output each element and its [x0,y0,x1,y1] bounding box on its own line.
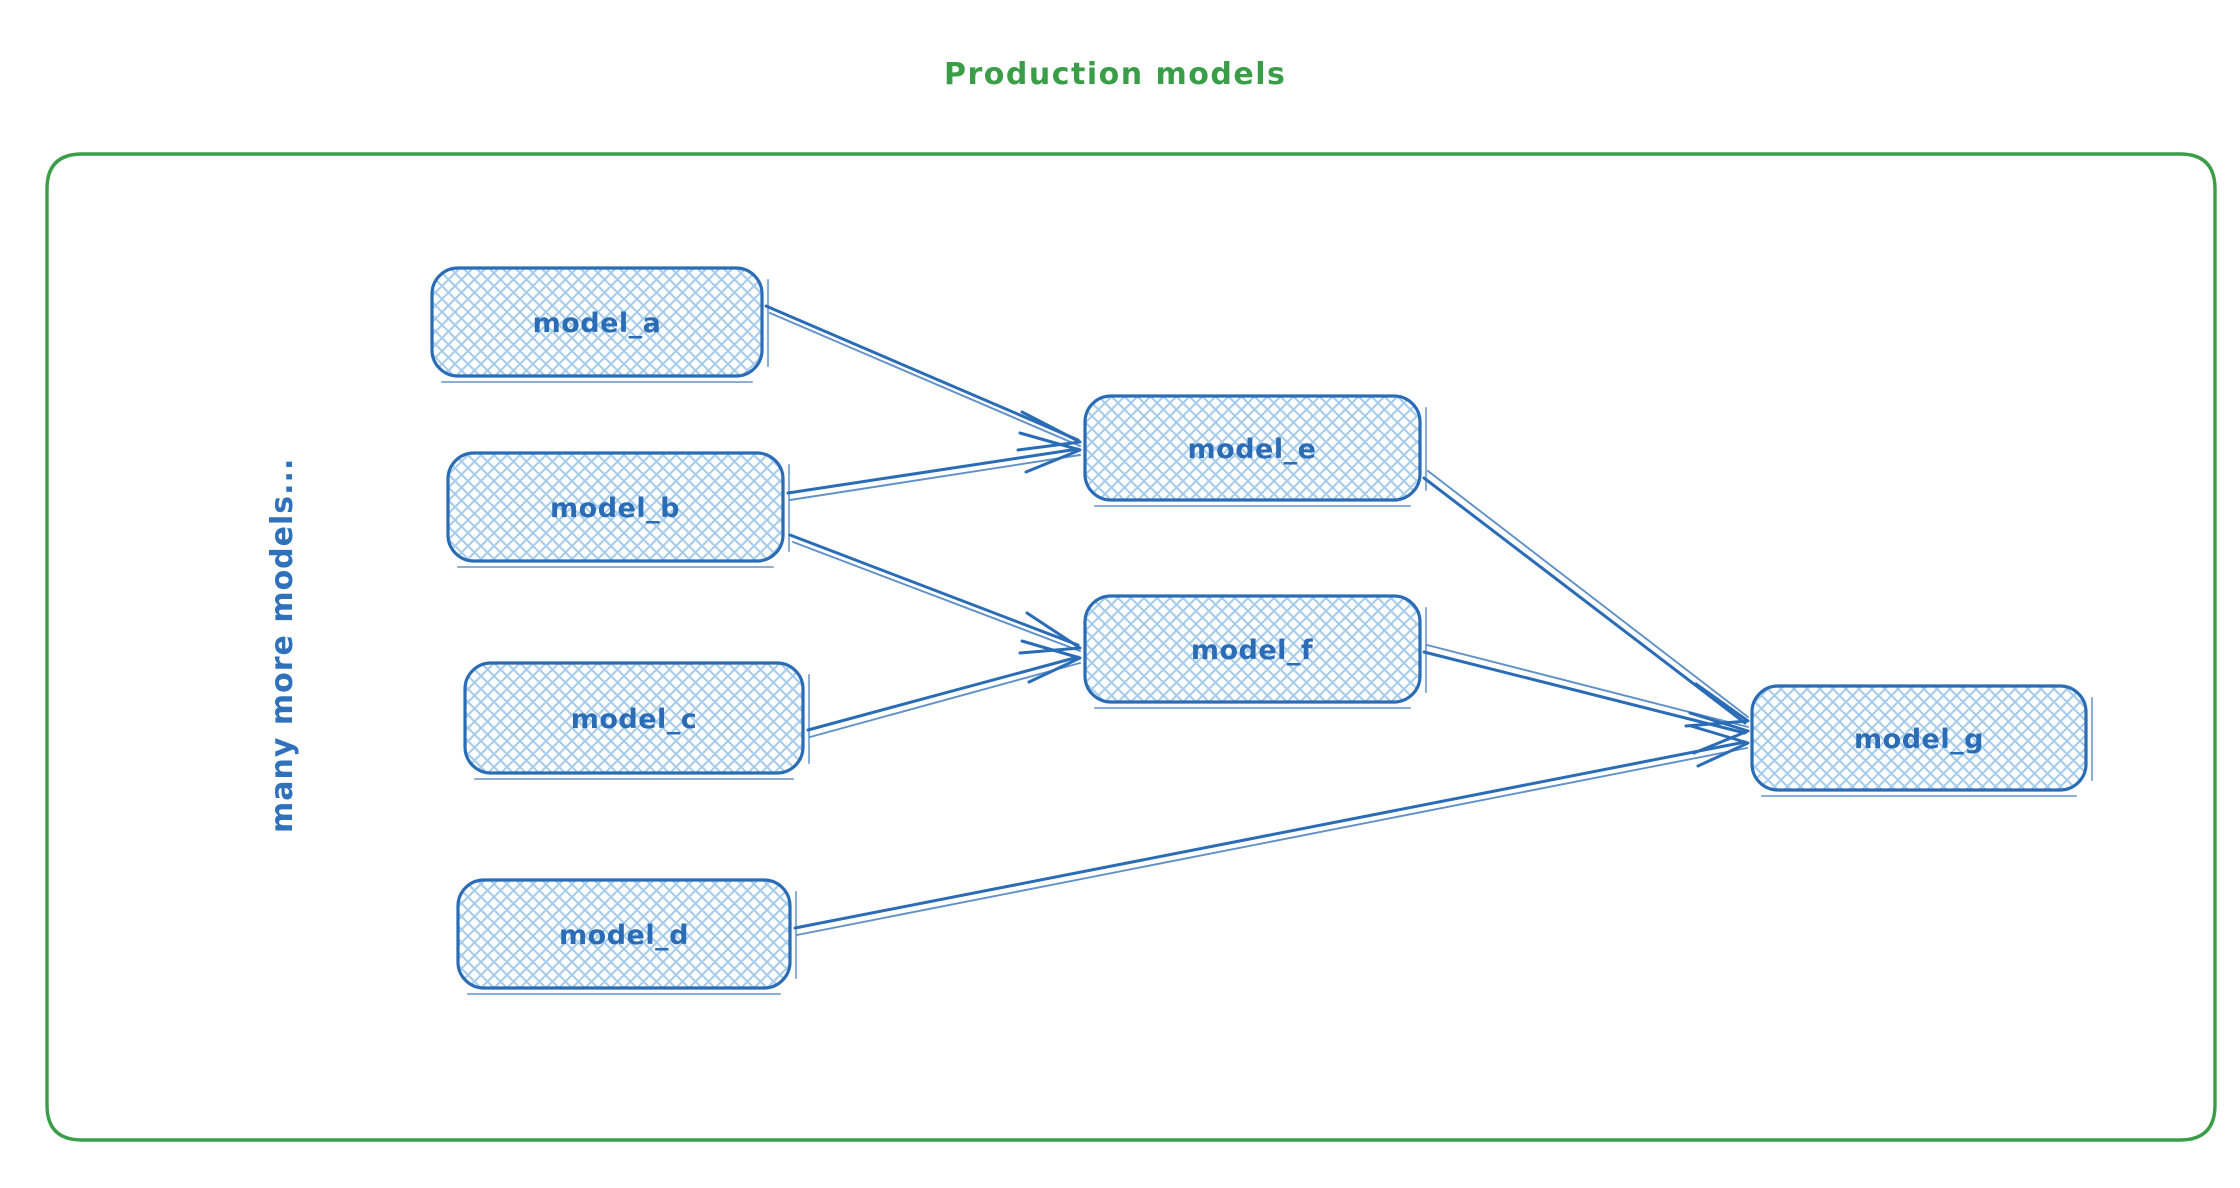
edge-model-b-to-model-f [790,535,1080,653]
edge-model-d-to-model-g [795,726,1748,935]
node-label-model-a: model_a [533,308,662,339]
node-model-e[interactable]: model_e [1085,396,1426,506]
side-note-many-more-models: many more models... [265,458,300,833]
node-model-c[interactable]: model_c [465,663,809,779]
diagram-title: Production models [944,57,1286,92]
node-label-model-e: model_e [1188,434,1317,465]
node-model-g[interactable]: model_g [1752,686,2092,796]
node-label-model-g: model_g [1854,724,1984,755]
edge-model-f-to-model-g [1424,645,1748,753]
node-model-b[interactable]: model_b [448,453,789,567]
diagram-canvas: Production models many more models... [0,0,2240,1188]
node-label-model-c: model_c [571,704,698,735]
edge-model-c-to-model-f [808,641,1080,737]
node-label-model-d: model_d [559,920,689,951]
node-label-model-f: model_f [1191,635,1313,666]
node-model-a[interactable]: model_a [432,268,768,382]
diagram-svg: Production models many more models... [0,0,2240,1188]
node-label-model-b: model_b [550,493,680,524]
edge-model-e-to-model-g [1424,471,1748,726]
node-model-f[interactable]: model_f [1085,596,1426,708]
edge-model-a-to-model-e [766,306,1080,450]
node-model-d[interactable]: model_d [458,880,796,994]
edge-model-b-to-model-e [788,433,1080,500]
